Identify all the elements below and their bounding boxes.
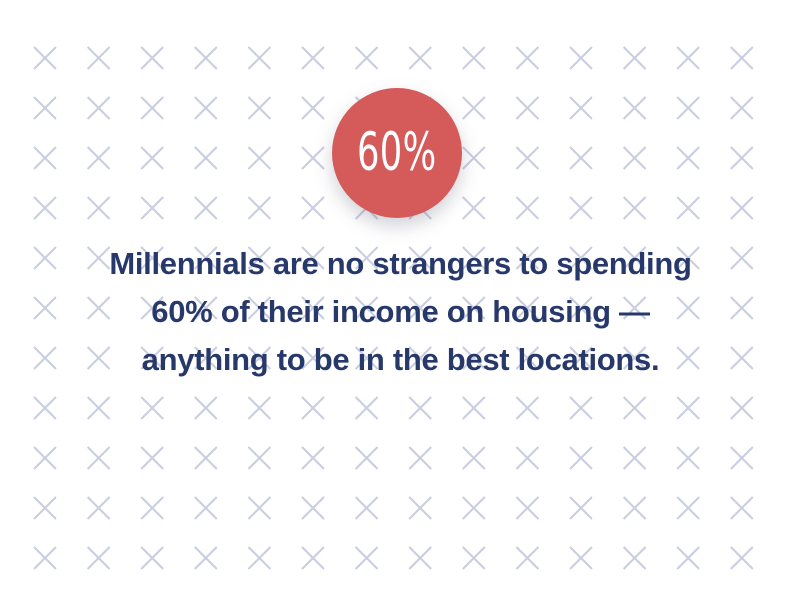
- headline-line-3: anything to be in the best locations.: [0, 336, 801, 384]
- headline-line-1: Millennials are no strangers to spending: [0, 240, 801, 288]
- headline-line-2: 60% of their income on housing —: [0, 288, 801, 336]
- statistic-badge: 60%: [332, 88, 462, 218]
- statistic-value: 60%: [357, 126, 437, 179]
- headline-text: Millennials are no strangers to spending…: [0, 240, 801, 384]
- infographic-canvas: 60% Millennials are no strangers to spen…: [0, 0, 801, 600]
